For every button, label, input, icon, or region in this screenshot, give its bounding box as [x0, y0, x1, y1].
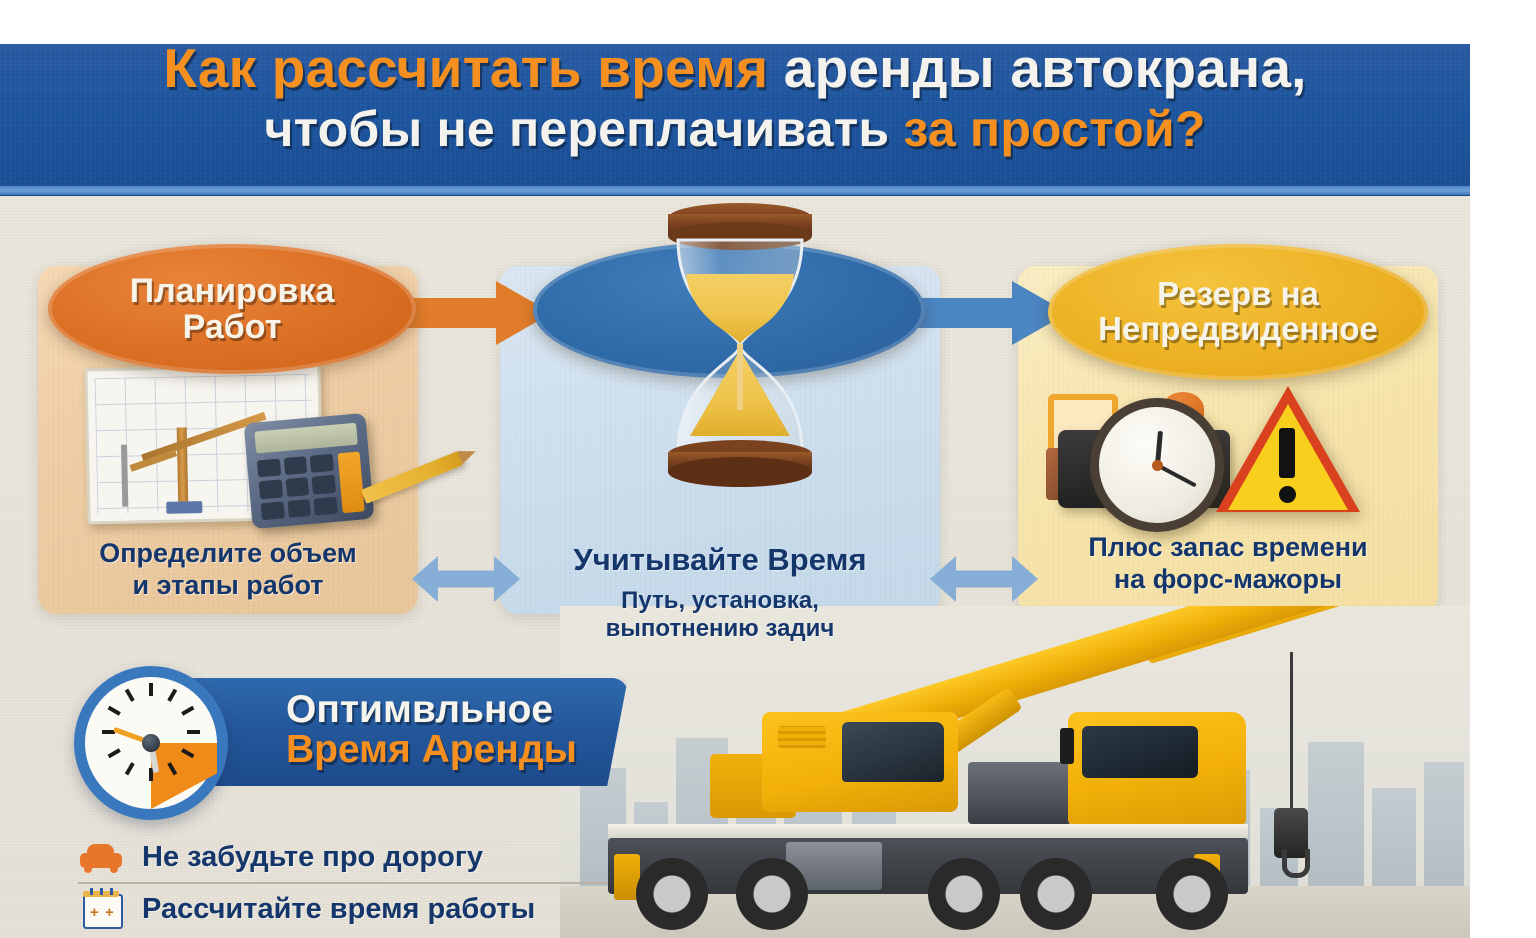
caption3-line2: на форс-мажоры: [1114, 564, 1342, 594]
clock-icon: [74, 666, 228, 820]
card-planning-header: Планировка Работ: [48, 244, 416, 374]
title-line-1: Как рассчитать время аренды автокрана,: [0, 40, 1470, 97]
title-rest-1: аренды автокрана,: [768, 37, 1306, 99]
card-reserve-caption: Плюс запас времени на форс-мажоры: [1028, 532, 1428, 596]
caption1-line1: Определите объем: [99, 538, 357, 568]
caption1-line2: и этапы работ: [133, 570, 324, 600]
exclamation-dot: [1279, 486, 1296, 503]
truck-crane-illustration: [590, 630, 1310, 930]
header-accent-strip: [0, 186, 1470, 195]
card-time-title: Учитывайте Время: [510, 542, 930, 579]
hourglass-icon: [640, 200, 840, 490]
calendar-icon: ++: [78, 891, 124, 927]
calculator-icon: [244, 413, 375, 529]
caption3-line1: Плюс запас времени: [1088, 532, 1367, 562]
list-item: ++ Рассчитайте время работы: [78, 882, 608, 934]
page-title: Как рассчитать время аренды автокрана, ч…: [0, 40, 1470, 155]
banner-line-1: Оптимвльное: [286, 690, 616, 730]
list-item: Не забудьте про дорогу: [78, 832, 608, 882]
double-arrow-left-icon: [412, 556, 520, 602]
top-margin: [0, 0, 1536, 44]
title-rest-2: чтобы не переплачивать: [264, 101, 903, 157]
card-planning-title-line2: Работ: [183, 308, 282, 346]
infographic-poster: Как рассчитать время аренды автокрана, ч…: [0, 0, 1536, 938]
banner-line-2: Время Аренды: [286, 730, 616, 770]
card-time-caption: Учитывайте Время Путь, установка, выпотн…: [510, 542, 930, 644]
card-planning-title-line1: Планировка: [130, 272, 335, 310]
alarm-clock-face: [1090, 398, 1224, 532]
exclamation-bar: [1279, 428, 1295, 478]
card-reserve-title-line1: Резерв на: [1157, 275, 1319, 312]
crane-scene: [560, 606, 1470, 938]
caption2-line2: выпотнению задич: [510, 615, 930, 644]
card-reserve-header: Резерв на Непредвиденное: [1048, 244, 1428, 380]
title-highlight-1: Как рассчитать время: [163, 37, 768, 99]
card-planning-caption: Определите объем и этапы работ: [48, 538, 408, 602]
tip-label-2: Рассчитайте время работы: [142, 893, 535, 926]
tip-label-1: Не забудьте про дорогу: [142, 841, 483, 874]
title-highlight-2: за простой?: [903, 101, 1205, 157]
car-icon: [78, 839, 124, 875]
double-arrow-right-icon: [930, 556, 1038, 602]
card-reserve-title-line2: Непредвиденное: [1098, 310, 1378, 347]
title-line-2: чтобы не переплачивать за простой?: [0, 103, 1470, 155]
caption2-line1: Путь, установка,: [510, 587, 930, 616]
right-margin: [1470, 0, 1536, 938]
tips-list: Не забудьте про дорогу ++ Рассчитайте вр…: [78, 832, 608, 934]
